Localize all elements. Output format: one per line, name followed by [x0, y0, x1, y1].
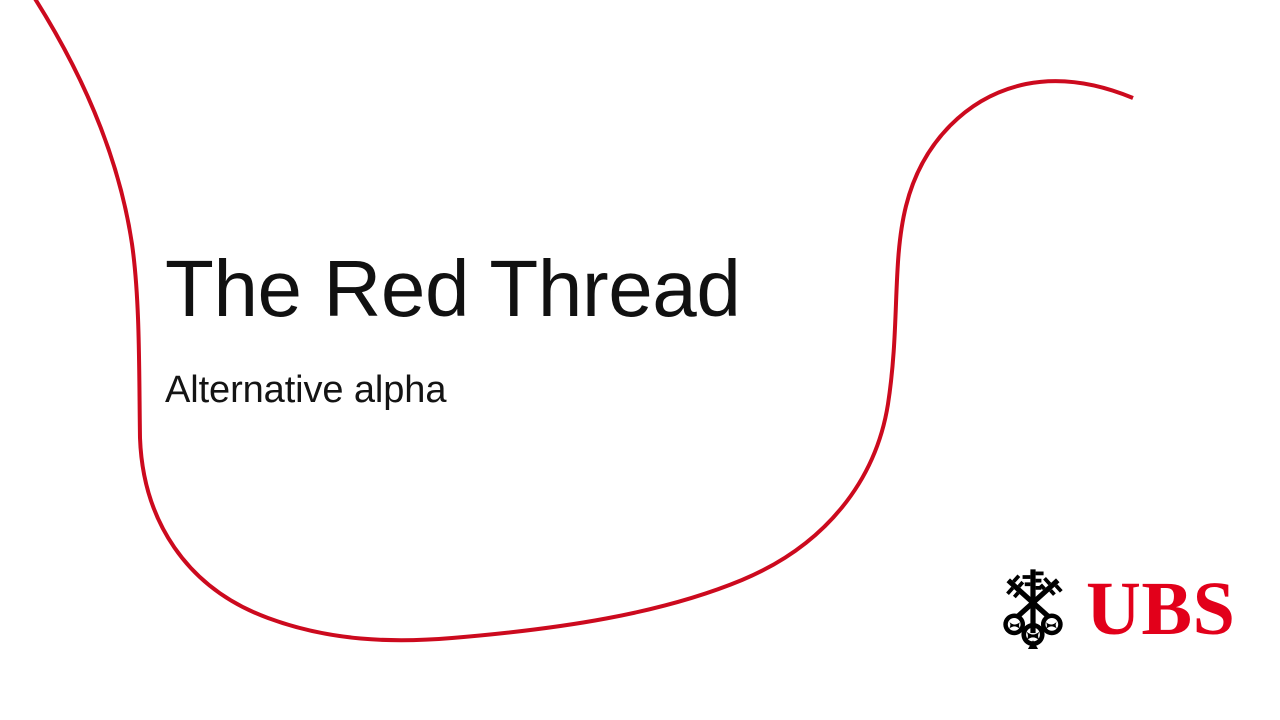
title-block: The Red Thread Alternative alpha — [165, 247, 925, 412]
page-title: The Red Thread — [165, 247, 925, 332]
page-subtitle: Alternative alpha — [165, 369, 925, 413]
ubs-logo: UBS — [996, 563, 1218, 651]
ubs-wordmark: UBS — [1086, 571, 1235, 647]
three-keys-icon — [996, 565, 1070, 649]
presentation-slide: The Red Thread Alternative alpha — [0, 0, 1280, 720]
